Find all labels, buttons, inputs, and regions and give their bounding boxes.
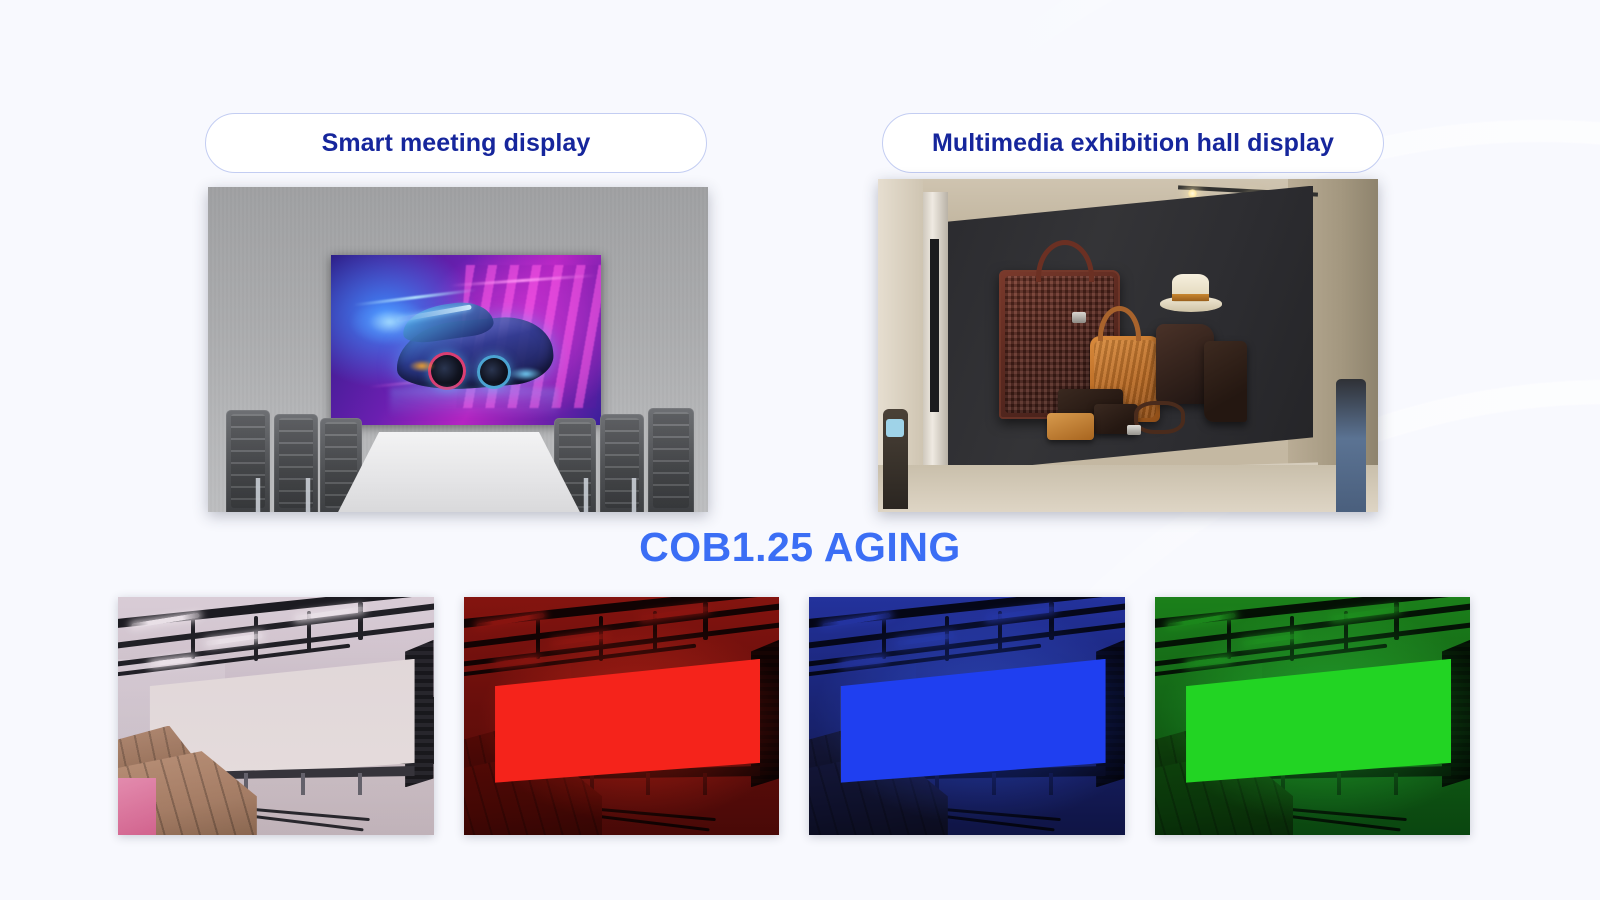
photo-smart-meeting-display xyxy=(208,187,708,512)
leather-belt xyxy=(1134,401,1185,434)
led-wall-leg-3 xyxy=(1337,773,1341,794)
briefcase-handle xyxy=(1036,240,1094,282)
led-wall-leg-4 xyxy=(703,773,707,794)
hat-band xyxy=(1172,294,1209,302)
led-wall-leg-4 xyxy=(1049,773,1053,794)
sports-car-rear-wheel xyxy=(477,355,511,389)
pink-plastic-wrap xyxy=(118,778,156,835)
exhibition-hall-floor xyxy=(878,465,1378,512)
led-wall-leg-4 xyxy=(1394,773,1398,794)
chair-legs-4 xyxy=(612,478,656,512)
label-multimedia-exhibition-hall-display[interactable]: Multimedia exhibition hall display xyxy=(882,113,1384,173)
photo-multimedia-exhibition-hall-display xyxy=(878,179,1378,512)
meeting-room-led-screen xyxy=(331,255,601,425)
led-wall-leg-3 xyxy=(301,773,305,794)
pillar-dark-strip xyxy=(930,239,939,412)
visitor-right xyxy=(1336,379,1366,512)
belt-buckle xyxy=(1127,425,1141,435)
leather-boots xyxy=(1204,341,1248,422)
ceiling-spotlight-1 xyxy=(1188,189,1197,198)
label-smart-meeting-display[interactable]: Smart meeting display xyxy=(205,113,707,173)
straw-hat xyxy=(1160,276,1222,312)
briefcase-lock xyxy=(1072,312,1086,323)
exhibition-led-wall xyxy=(948,186,1313,486)
aging-test-gallery xyxy=(118,597,1470,835)
led-wall-leg-3 xyxy=(646,773,650,794)
aging-test-card-red[interactable] xyxy=(464,597,780,835)
led-wall-leg-3 xyxy=(992,773,996,794)
chair-legs-1 xyxy=(236,478,280,512)
visitor-left xyxy=(883,409,908,509)
slide-stage: Smart meeting display Multimedia exhibit… xyxy=(0,0,1600,900)
aging-test-card-white[interactable] xyxy=(118,597,434,835)
screen-floor-reflection xyxy=(390,388,557,419)
sports-car-blue-glow xyxy=(509,367,543,381)
section-title-cob-aging: COB1.25 AGING xyxy=(0,524,1600,571)
aging-test-card-green[interactable] xyxy=(1155,597,1471,835)
aging-test-card-blue[interactable] xyxy=(809,597,1125,835)
chair-legs-2 xyxy=(286,478,330,512)
tan-wallet xyxy=(1047,413,1094,440)
sports-car-orange-glow xyxy=(409,360,435,372)
led-wall-leg-4 xyxy=(358,773,362,794)
